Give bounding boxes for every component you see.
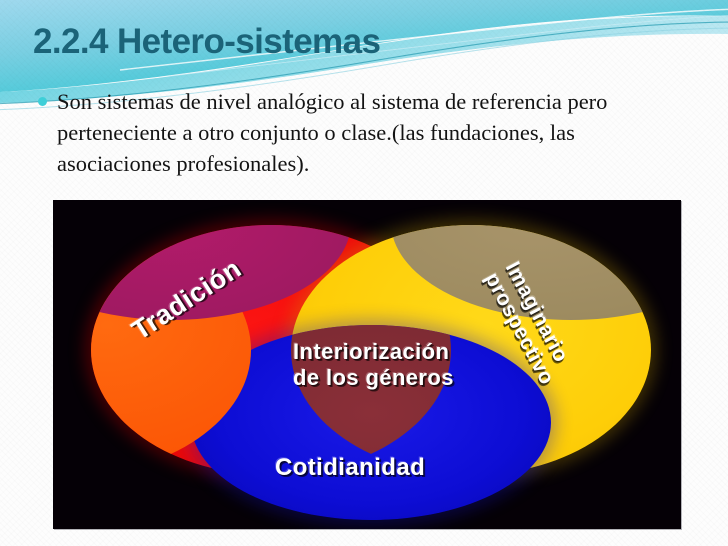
venn-label-interiorizacion-line2: de los géneros <box>293 365 454 391</box>
venn-stage: Tradición Imaginario prospectivo Interio… <box>53 200 681 529</box>
venn-label-cotidianidad: Cotidianidad <box>275 454 425 482</box>
bullet-dot-icon <box>38 97 47 106</box>
venn-label-interiorizacion-line1: Interiorización <box>293 339 454 365</box>
venn-diagram-image: Tradición Imaginario prospectivo Interio… <box>53 200 681 529</box>
presentation-slide: 2.2.4 Hetero-sistemas Son sistemas de ni… <box>0 0 728 546</box>
page-title: 2.2.4 Hetero-sistemas <box>33 22 380 62</box>
venn-label-interiorizacion: Interiorización de los géneros <box>293 339 454 391</box>
bullet-item-text: Son sistemas de nivel analógico al siste… <box>57 86 687 179</box>
bullet-list-item: Son sistemas de nivel analógico al siste… <box>38 86 698 179</box>
